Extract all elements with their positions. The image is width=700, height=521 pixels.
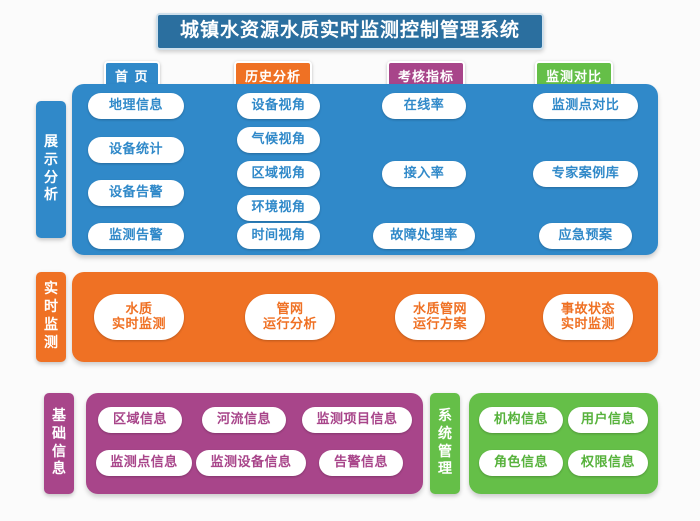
- item-organization-information-label: 机构信息: [494, 412, 548, 427]
- tab-home-label: 首 页: [115, 70, 149, 85]
- item-region-view-label: 区域视角: [251, 166, 305, 181]
- section-label-realtime-monitoring-text: 实时监测: [44, 281, 58, 353]
- section-label-system-management: 系统管理: [430, 393, 460, 494]
- item-expert-case-library[interactable]: 专家案例库: [533, 161, 638, 187]
- page-title: 城镇水资源水质实时监测控制管理系统: [180, 19, 520, 41]
- item-water-quality-realtime-monitoring-label: 水质 实时监测: [112, 302, 166, 333]
- item-fault-handling-rate-label: 故障处理率: [390, 228, 458, 243]
- item-monitor-point-information[interactable]: 监测点信息: [96, 450, 192, 476]
- section-panel-system-management: 机构信息 用户信息 角色信息 权限信息: [469, 393, 658, 494]
- item-climate-view-label: 气候视角: [251, 132, 305, 147]
- item-emergency-plan[interactable]: 应急预案: [539, 223, 632, 249]
- section-label-display-analysis: 展示分析: [36, 101, 66, 238]
- item-pipe-network-operation-analysis-label: 管网 运行分析: [263, 302, 317, 333]
- section-label-display-analysis-text: 展示分析: [44, 134, 58, 206]
- item-device-view[interactable]: 设备视角: [237, 93, 320, 119]
- item-online-rate-label: 在线率: [404, 98, 445, 113]
- item-river-information-label: 河流信息: [217, 412, 271, 427]
- item-monitor-device-information-label: 监测设备信息: [210, 455, 291, 470]
- item-user-information[interactable]: 用户信息: [568, 407, 648, 433]
- item-pipe-network-operation-analysis[interactable]: 管网 运行分析: [245, 294, 335, 340]
- tab-history-analysis-label: 历史分析: [245, 70, 301, 85]
- section-panel-basic-information: 区域信息 河流信息 监测项目信息 监测点信息 监测设备信息 告警信息: [86, 393, 423, 494]
- item-geographic-info-label: 地理信息: [109, 98, 163, 113]
- item-role-information[interactable]: 角色信息: [479, 450, 563, 476]
- item-role-information-label: 角色信息: [494, 455, 548, 470]
- tab-bar: 首 页 历史分析 考核指标 监测对比: [88, 61, 658, 85]
- item-accident-status-realtime-monitoring-label: 事故状态 实时监测: [561, 302, 615, 333]
- item-monitor-point-information-label: 监测点信息: [110, 455, 178, 470]
- section-label-system-management-text: 系统管理: [438, 408, 452, 480]
- item-permission-information-label: 权限信息: [581, 455, 635, 470]
- item-environment-view-label: 环境视角: [251, 200, 305, 215]
- item-emergency-plan-label: 应急预案: [558, 228, 612, 243]
- item-monitor-project-information[interactable]: 监测项目信息: [302, 407, 412, 433]
- item-monitor-point-comparison[interactable]: 监测点对比: [533, 93, 638, 119]
- item-time-view[interactable]: 时间视角: [237, 223, 320, 249]
- item-permission-information[interactable]: 权限信息: [568, 450, 648, 476]
- page-title-bar: 城镇水资源水质实时监测控制管理系统: [156, 13, 544, 50]
- item-water-quality-pipe-network-plan[interactable]: 水质管网 运行方案: [395, 294, 485, 340]
- section-label-basic-information-text: 基础信息: [52, 408, 66, 480]
- item-time-view-label: 时间视角: [251, 228, 305, 243]
- item-water-quality-pipe-network-plan-label: 水质管网 运行方案: [413, 302, 467, 333]
- page-title-container: 城镇水资源水质实时监测控制管理系统: [0, 13, 700, 50]
- item-device-statistics[interactable]: 设备统计: [88, 137, 184, 163]
- item-access-rate-label: 接入率: [404, 166, 445, 181]
- item-region-view[interactable]: 区域视角: [237, 161, 320, 187]
- item-expert-case-library-label: 专家案例库: [552, 166, 620, 181]
- section-panel-realtime-monitoring: 水质 实时监测 管网 运行分析 水质管网 运行方案 事故状态 实时监测: [72, 272, 658, 362]
- item-monitor-alarm-label: 监测告警: [109, 228, 163, 243]
- item-device-statistics-label: 设备统计: [109, 142, 163, 157]
- item-environment-view[interactable]: 环境视角: [237, 195, 320, 221]
- item-monitor-device-information[interactable]: 监测设备信息: [196, 450, 306, 476]
- item-device-view-label: 设备视角: [251, 98, 305, 113]
- item-device-alarm-label: 设备告警: [109, 185, 163, 200]
- item-river-information[interactable]: 河流信息: [202, 407, 286, 433]
- tab-monitor-comparison-label: 监测对比: [546, 70, 602, 85]
- item-monitor-alarm[interactable]: 监测告警: [88, 223, 184, 249]
- item-monitor-project-information-label: 监测项目信息: [316, 412, 397, 427]
- item-region-information[interactable]: 区域信息: [98, 407, 182, 433]
- tab-assessment-index-label: 考核指标: [398, 70, 454, 85]
- item-accident-status-realtime-monitoring[interactable]: 事故状态 实时监测: [543, 294, 633, 340]
- section-label-basic-information: 基础信息: [44, 393, 74, 494]
- item-online-rate[interactable]: 在线率: [382, 93, 466, 119]
- section-panel-display-analysis: 地理信息 设备统计 设备告警 监测告警 设备视角 气候视角 区域视角 环境视角 …: [72, 84, 658, 255]
- section-label-realtime-monitoring: 实时监测: [36, 272, 66, 362]
- item-alarm-information[interactable]: 告警信息: [319, 450, 403, 476]
- item-device-alarm[interactable]: 设备告警: [88, 180, 184, 206]
- item-alarm-information-label: 告警信息: [334, 455, 388, 470]
- item-access-rate[interactable]: 接入率: [382, 161, 466, 187]
- item-user-information-label: 用户信息: [581, 412, 635, 427]
- item-organization-information[interactable]: 机构信息: [479, 407, 563, 433]
- item-geographic-info[interactable]: 地理信息: [88, 93, 184, 119]
- item-climate-view[interactable]: 气候视角: [237, 127, 320, 153]
- item-water-quality-realtime-monitoring[interactable]: 水质 实时监测: [94, 294, 184, 340]
- item-region-information-label: 区域信息: [113, 412, 167, 427]
- item-monitor-point-comparison-label: 监测点对比: [552, 98, 620, 113]
- item-fault-handling-rate[interactable]: 故障处理率: [373, 223, 475, 249]
